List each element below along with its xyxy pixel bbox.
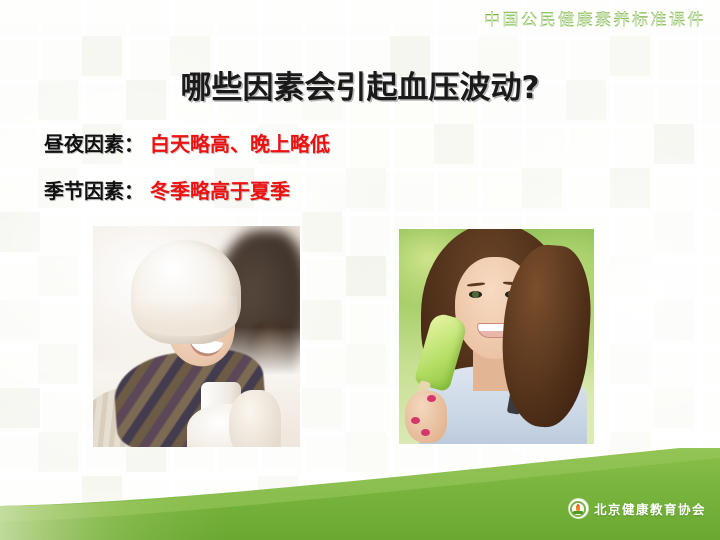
course-header-title: 中国公民健康素养标准课件 [484, 6, 706, 30]
bullet-label: 昼夜因素： [44, 132, 144, 156]
summer-photo [399, 229, 594, 444]
bullet-label: 季节因素： [44, 179, 144, 203]
association-logo-icon [569, 499, 588, 518]
footer-banner: 北京健康教育协会 [0, 448, 720, 540]
summer-fingernail [421, 429, 430, 436]
footer-organization: 北京健康教育协会 [569, 499, 706, 518]
winter-photo [93, 226, 300, 447]
summer-fingernail [427, 395, 436, 402]
bullet-day-night: 昼夜因素：白天略高、晚上略低 [44, 128, 330, 157]
slide-canvas: 中国公民健康素养标准课件 哪些因素会引起血压波动? 昼夜因素：白天略高、晚上略低… [0, 0, 720, 540]
summer-eye-left [469, 291, 482, 298]
summer-fingernail [411, 417, 420, 424]
footer-swoosh [0, 448, 720, 540]
winter-knit-hat [131, 240, 241, 344]
bullet-value: 白天略高、晚上略低 [150, 132, 330, 156]
slide-title: 哪些因素会引起血压波动? [0, 62, 720, 107]
bullet-season: 季节因素：冬季略高于夏季 [44, 175, 290, 204]
footer-organization-name: 北京健康教育协会 [594, 499, 706, 518]
winter-glove-right [229, 390, 281, 447]
bullet-value: 冬季略高于夏季 [150, 179, 290, 203]
